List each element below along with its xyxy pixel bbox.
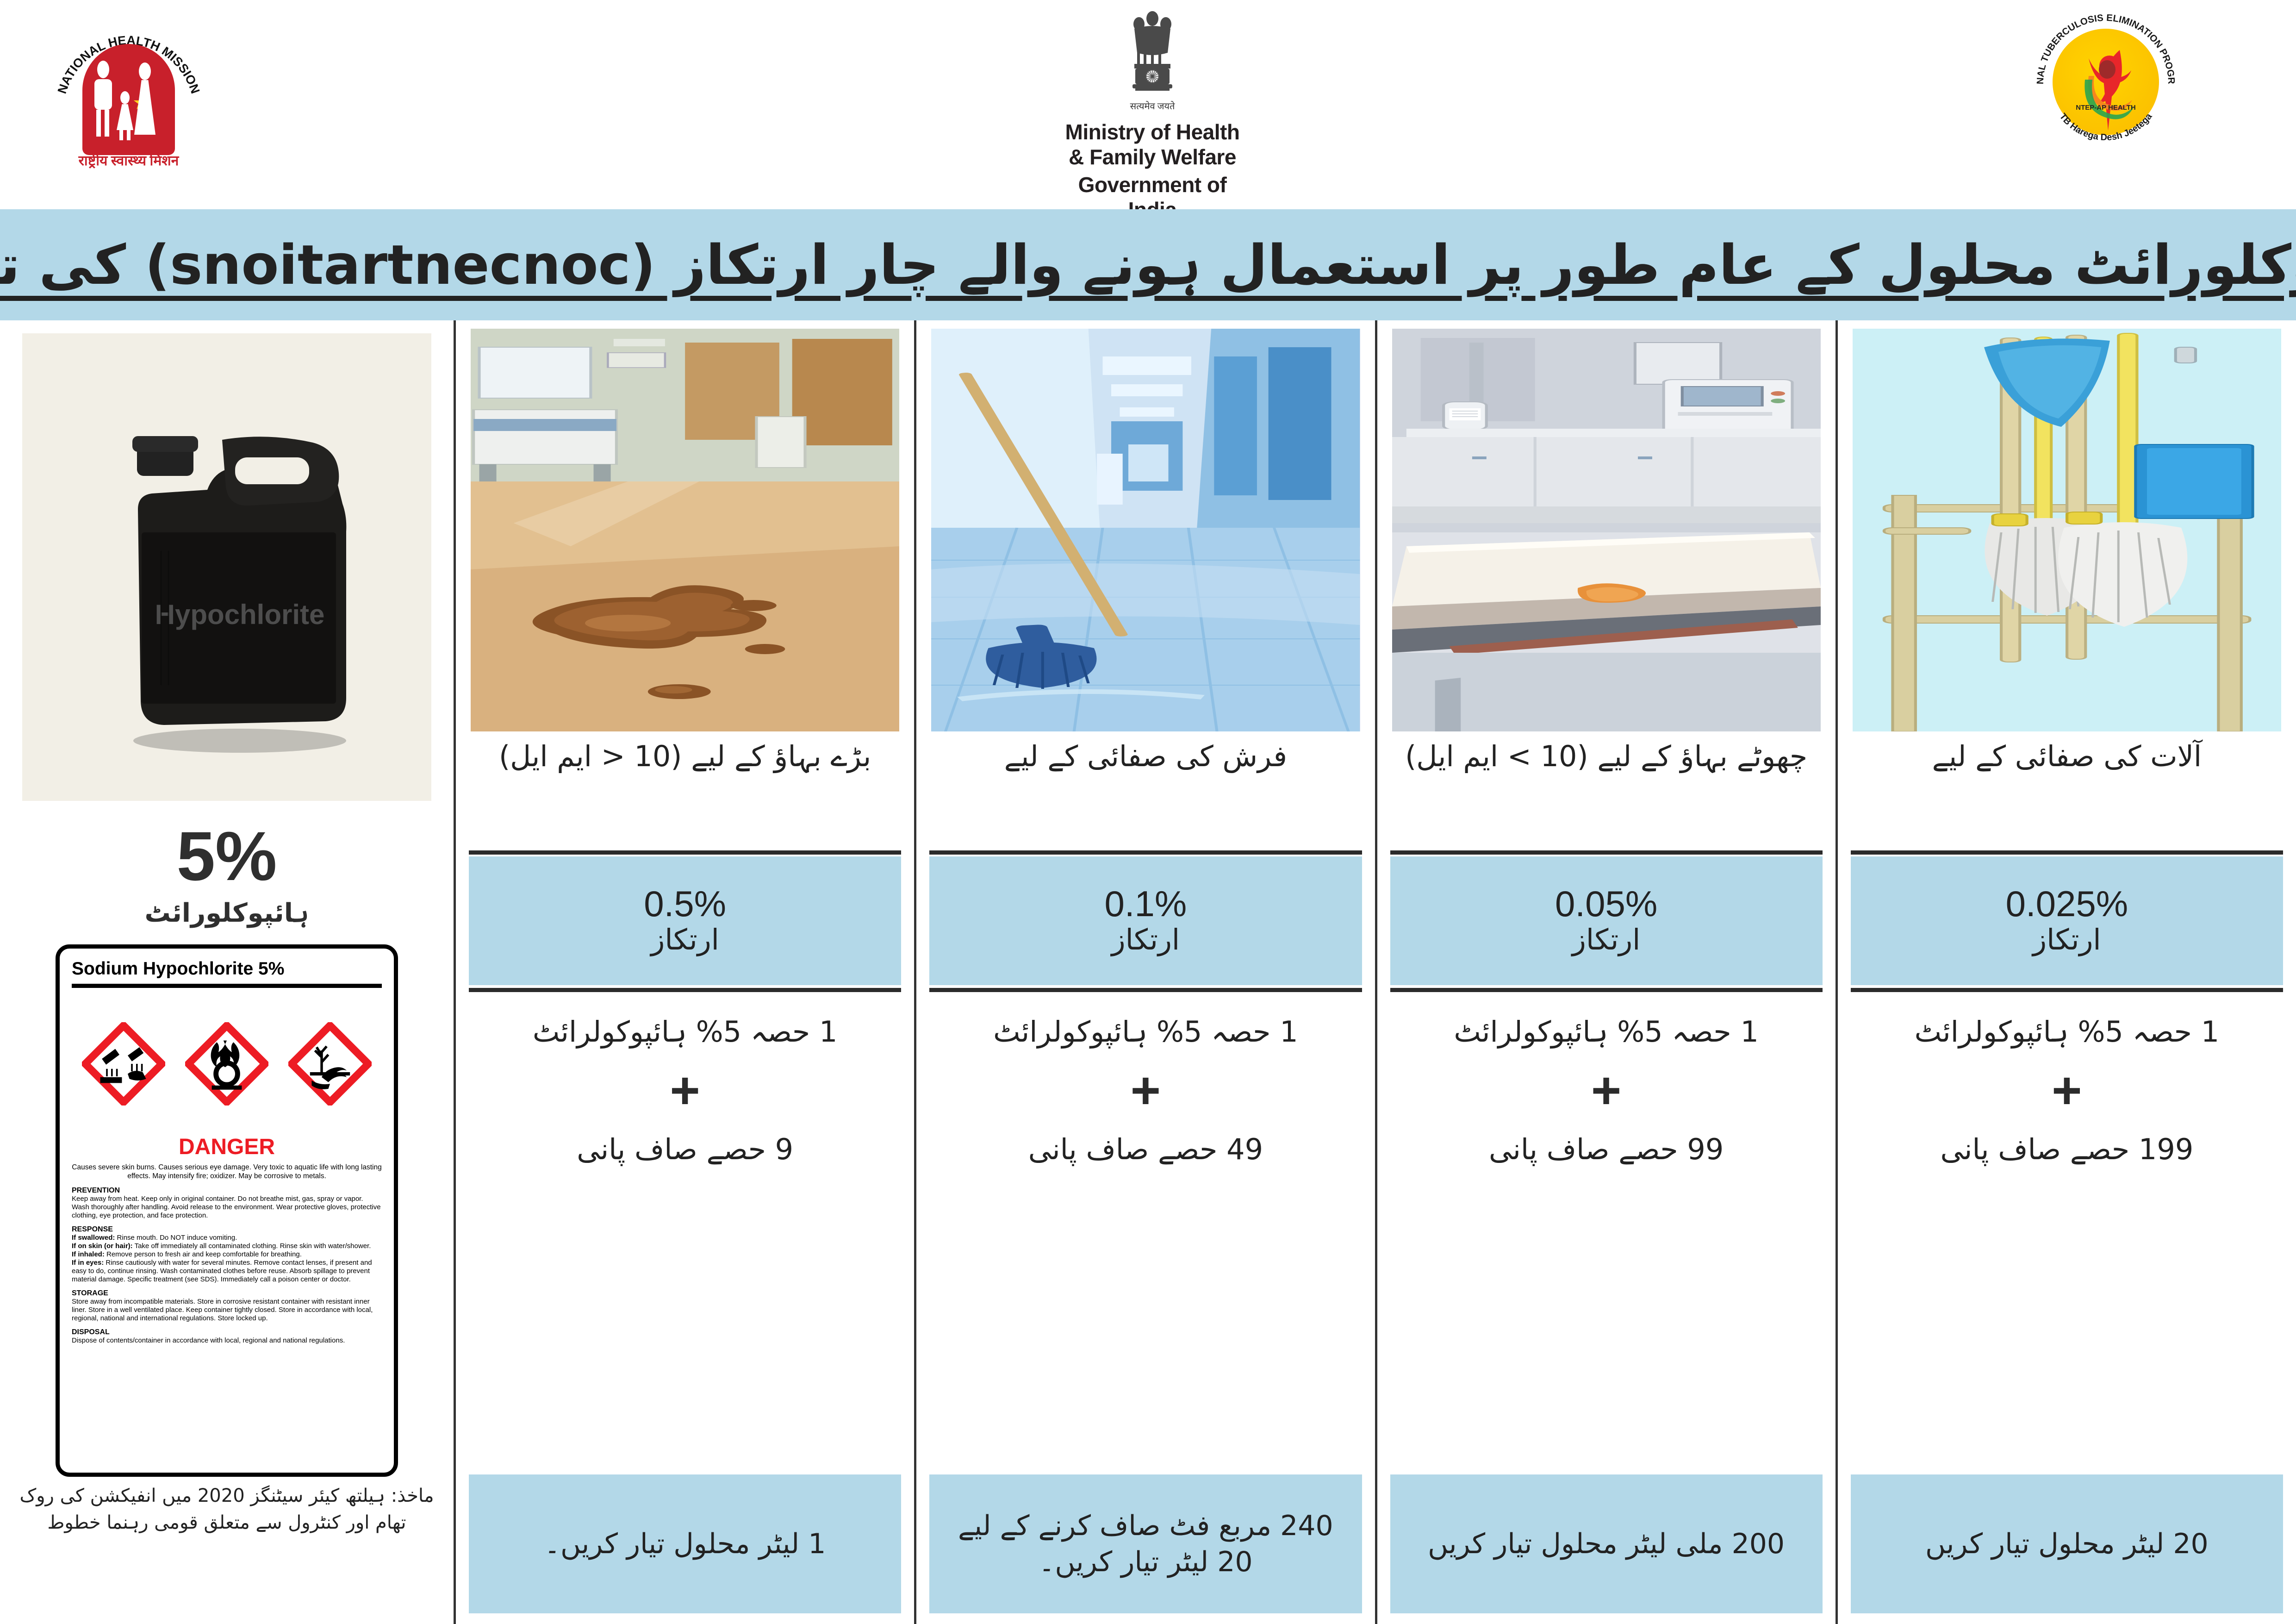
recipe-hypochlorite-part: 1 حصہ 5% ہائپوکولرائٹ [993, 1015, 1298, 1049]
mopping-hospital-corridor-floor-image [931, 329, 1360, 731]
ghs-disposal-text: Dispose of contents/container in accorda… [72, 1337, 382, 1345]
concentration-label: ارتکاز [651, 923, 719, 956]
small-spill-on-counter-image [1392, 329, 1821, 731]
concentration-columns: بڑے بہاؤ کے لیے (10 < ایم ایل) 0.5% ارتک… [454, 320, 2296, 1624]
column-small-spill: چھوٹے بہاؤ کے لیے (10 > ایم ایل) 0.05% ا… [1375, 320, 1836, 1624]
ghs-response-text: Take off immediately all contaminated cl… [133, 1242, 371, 1250]
column-floor-cleaning: فرش کی صفائی کے لیے 0.1% ارتکاز 1 حصہ 5%… [914, 320, 1375, 1624]
emblem-motto: सत्यमेव जयते [1064, 100, 1240, 112]
child-body-icon [117, 104, 133, 130]
rule-top [1390, 850, 1823, 855]
father-leg-right [105, 110, 109, 137]
cleaning-equipment-mops-rack-image [1853, 329, 2281, 731]
ghs-pictogram-row [72, 994, 382, 1133]
ghs-response-lead: If swallowed: [72, 1234, 115, 1242]
ghs-response-text: Remove person to fresh air and keep comf… [105, 1250, 302, 1258]
yield-band: 20 لیٹر محلول تیار کریں [1851, 1474, 2283, 1613]
recipe-water-part: 49 حصے صاف پانی [1028, 1132, 1263, 1167]
ghs-response-item: If inhaled: Remove person to fresh air a… [72, 1250, 382, 1259]
plus-icon: + [2052, 1065, 2082, 1117]
rule-top [929, 850, 1362, 855]
plus-icon: + [1131, 1065, 1161, 1117]
ministry-line-1: Ministry of Health & Family Welfare [1064, 119, 1240, 169]
ghs-response-lead: If in eyes: [72, 1259, 104, 1267]
column-heading: چھوٹے بہاؤ کے لیے (10 > ایم ایل) [1390, 739, 1823, 837]
ghs-response-lead: If inhaled: [72, 1250, 105, 1258]
ghs-prevention-text: Keep away from heat. Keep only in origin… [72, 1195, 382, 1220]
concentration-label: ارتکاز [1572, 923, 1641, 956]
yield-band: 200 ملی لیٹر محلول تیار کریں [1390, 1474, 1823, 1613]
nhm-arch-shape [82, 44, 175, 155]
concentration-band: 0.5% ارتکاز [469, 856, 901, 985]
ghs-response-text: Rinse mouth. Do NOT induce vomiting. [115, 1234, 237, 1242]
father-leg-left [96, 110, 101, 137]
father-body-icon [94, 79, 112, 110]
ntep-arc-text: NATIONAL TUBERCULOSIS ELIMINATION PROGRA… [2034, 10, 2178, 154]
rule-middle [1851, 988, 2283, 992]
recipe-water-part: 9 حصے صاف پانی [577, 1132, 793, 1167]
recipe-water-part: 199 حصے صاف پانی [1940, 1132, 2193, 1167]
recipe-hypochlorite-part: 1 حصہ 5% ہائپوکولرائٹ [1454, 1015, 1759, 1049]
rule-middle [469, 988, 901, 992]
ghs-signal-word: DANGER [72, 1134, 382, 1160]
recipe-block: 1 حصہ 5% ہائپوکولرائٹ + 199 حصے صاف پانی [1851, 1001, 2283, 1464]
oxidizer-flame-over-circle-pictogram-icon [185, 1022, 268, 1106]
child-leg-left [119, 130, 123, 140]
rule-top [469, 850, 901, 855]
column-heading: آلات کی صفائی کے لیے [1851, 739, 2283, 837]
blood-spill-on-hospital-floor-image [471, 329, 899, 731]
ghs-storage-heading: STORAGE [72, 1289, 382, 1298]
rule-middle [929, 988, 1362, 992]
page-title: ہائپوکلورائٹ محلول کے عام طور پر استعمال… [0, 237, 2296, 292]
recipe-water-part: 99 حصے صاف پانی [1489, 1132, 1724, 1167]
nhm-logo: NATIONAL HEALTH MISSION राष्ट्रीय स्वास्… [56, 12, 204, 160]
recipe-hypochlorite-part: 1 حصہ 5% ہائپوکولرائٹ [533, 1015, 838, 1049]
concentration-value: 0.05% [1555, 885, 1657, 923]
column-large-spill: بڑے بہاؤ کے لیے (10 < ایم ایل) 0.5% ارتک… [454, 320, 914, 1624]
mother-head-icon [139, 62, 151, 80]
corrosion-pictogram-icon [82, 1022, 165, 1106]
ghs-divider [72, 984, 382, 988]
jug-label-text: Hypochlorite [155, 599, 325, 630]
ghs-response-item: If on skin (or hair): Take off immediate… [72, 1242, 382, 1250]
ghs-response-item: If swallowed: Rinse mouth. Do NOT induce… [72, 1234, 382, 1242]
ghs-response-text: Rinse cautiously with water for several … [72, 1259, 372, 1283]
concentration-band: 0.1% ارتکاز [929, 856, 1362, 985]
ntep-ribbon-label: NTEP-AP HEALTH [2076, 104, 2135, 112]
recipe-block: 1 حصہ 5% ہائپوکولرائٹ + 49 حصے صاف پانی [929, 1001, 1362, 1464]
rule-top [1851, 850, 2283, 855]
nhm-hindi-label: राष्ट्रीय स्वास्थ्य मिशन [56, 150, 202, 169]
concentration-value: 0.5% [644, 885, 726, 923]
ghs-disposal-heading: DISPOSAL [72, 1328, 382, 1337]
percent-sublabel: ہائپوکلورائٹ [0, 898, 454, 928]
ghs-hazard-statement: Causes severe skin burns. Causes serious… [72, 1163, 382, 1181]
content-board: Hypochlorite 5% ہائپوکلورائٹ Sodium Hypo… [0, 320, 2296, 1624]
ghs-response-lead: If on skin (or hair): [72, 1242, 133, 1250]
product-sidebar: Hypochlorite 5% ہائپوکلورائٹ Sodium Hypo… [0, 320, 454, 1624]
concentration-value: 0.025% [2006, 885, 2128, 923]
concentration-label: ارتکاز [1112, 923, 1180, 956]
india-emblem-block: सत्यमेव जयते Ministry of Health & Family… [1064, 8, 1240, 222]
ashoka-emblem-icon [1118, 8, 1187, 99]
child-head-icon [120, 91, 130, 104]
ghs-title: Sodium Hypochlorite 5% [72, 959, 382, 979]
source-note: ماخذ: ہیلتھ کیئر سیٹنگز 2020 میں انفیکشن… [19, 1482, 435, 1536]
child-leg-right [127, 130, 131, 140]
concentration-band: 0.05% ارتکاز [1390, 856, 1823, 985]
environment-pictogram-icon [288, 1022, 372, 1106]
father-head-icon [97, 61, 109, 78]
page-header: NATIONAL HEALTH MISSION राष्ट्रीय स्वास्… [0, 0, 2296, 213]
title-banner: ہائپوکلورائٹ محلول کے عام طور پر استعمال… [0, 209, 2296, 320]
ghs-hazard-label: Sodium Hypochlorite 5% [56, 944, 398, 1477]
ghs-prevention-heading: PREVENTION [72, 1187, 382, 1195]
concentration-value: 0.1% [1104, 885, 1187, 923]
ntep-logo: NATIONAL TUBERCULOSIS ELIMINATION PROGRA… [2034, 10, 2178, 154]
hypochlorite-jug-image: Hypochlorite [22, 333, 431, 801]
column-heading: فرش کی صفائی کے لیے [929, 739, 1362, 837]
recipe-block: 1 حصہ 5% ہائپوکولرائٹ + 9 حصے صاف پانی [469, 1001, 901, 1464]
plus-icon: + [1591, 1065, 1621, 1117]
concentration-label: ارتکاز [2033, 923, 2101, 956]
recipe-hypochlorite-part: 1 حصہ 5% ہائپوکولرائٹ [1915, 1015, 2220, 1049]
recipe-block: 1 حصہ 5% ہائپوکولرائٹ + 99 حصے صاف پانی [1390, 1001, 1823, 1464]
ghs-response-heading: RESPONSE [72, 1225, 382, 1234]
column-equipment-cleaning: آلات کی صفائی کے لیے 0.025% ارتکاز 1 حصہ… [1836, 320, 2296, 1624]
ghs-response-item: If in eyes: Rinse cautiously with water … [72, 1259, 382, 1284]
concentration-band: 0.025% ارتکاز [1851, 856, 2283, 985]
percent-headline: 5% [0, 821, 454, 891]
yield-band: 1 لیٹر محلول تیار کریں۔ [469, 1474, 901, 1613]
column-heading: بڑے بہاؤ کے لیے (10 < ایم ایل) [469, 739, 901, 837]
yield-band: 240 مربع فٹ صاف کرنے کے لیے 20 لیٹر تیار… [929, 1474, 1362, 1613]
plus-icon: + [670, 1065, 700, 1117]
rule-middle [1390, 988, 1823, 992]
ghs-storage-text: Store away from incompatible materials. … [72, 1298, 382, 1323]
ntep-figure-icon [2084, 50, 2134, 131]
